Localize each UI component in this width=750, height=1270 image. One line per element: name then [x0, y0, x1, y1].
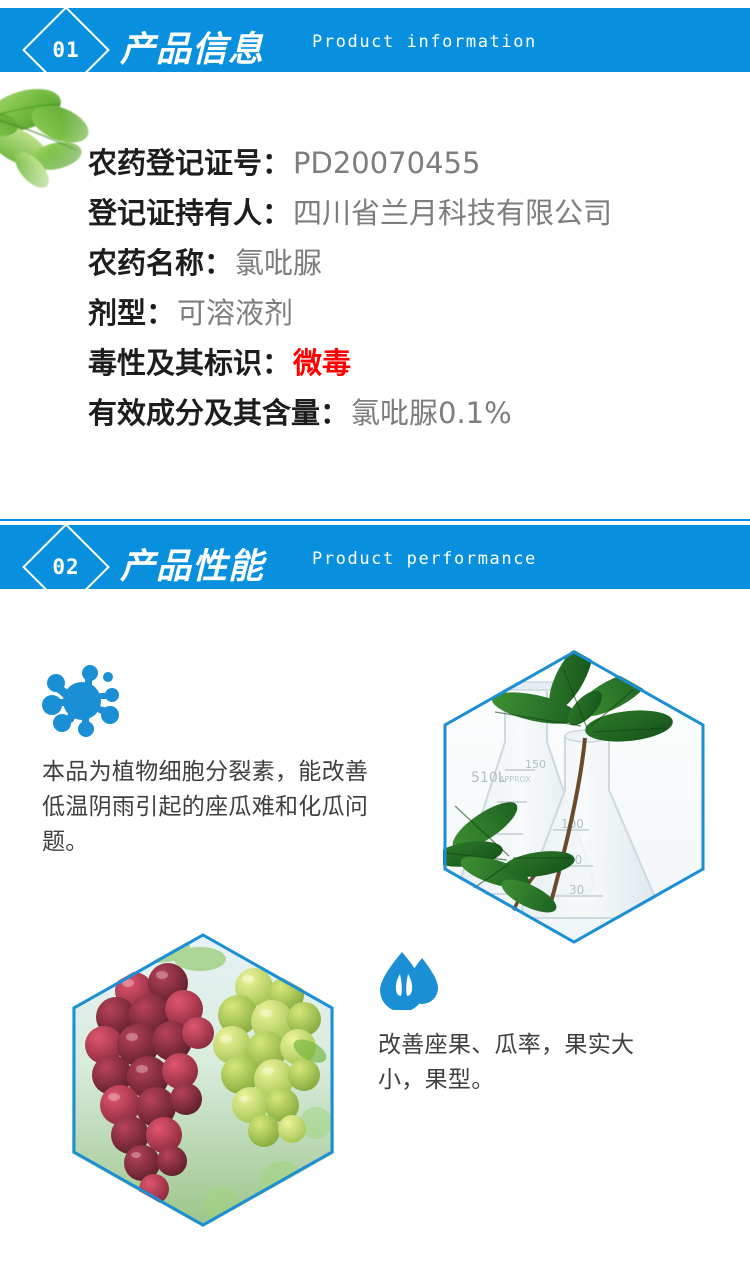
info-label: 毒性及其标识：: [88, 346, 291, 380]
section-title-en-01: Product information: [312, 32, 537, 52]
hexagon-border: [72, 933, 334, 1227]
flask-plant-photo: 150 APPROX 510L 100 50 30: [443, 650, 705, 944]
performance-feature-text: 改善座果、瓜率，果实大小，果型。: [378, 1028, 678, 1098]
banner-top-divider: [0, 519, 750, 521]
section-title-en-02: Product performance: [312, 549, 537, 569]
info-label: 登记证持有人：: [88, 196, 291, 230]
info-row: 毒性及其标识：微毒: [88, 338, 728, 388]
info-value: 可溶液剂: [177, 296, 293, 330]
performance-feature-text: 本品为植物细胞分裂素，能改善低温阴雨引起的座瓜难和化瓜问题。: [42, 755, 372, 860]
info-value: 氯吡脲0.1%: [351, 396, 512, 430]
product-info-list: 农药登记证号：PD20070455 登记证持有人：四川省兰月科技有限公司 农药名…: [88, 138, 728, 438]
info-label: 农药登记证号：: [88, 146, 291, 180]
molecule-cell-icon: [42, 665, 126, 737]
hexagon-border: [443, 650, 705, 944]
info-row: 有效成分及其含量：氯吡脲0.1%: [88, 388, 728, 438]
info-label: 剂型：: [88, 296, 175, 330]
info-row: 剂型：可溶液剂: [88, 288, 728, 338]
info-value: PD20070455: [293, 146, 480, 180]
info-value: 氯吡脲: [235, 246, 322, 280]
grapes-photo: [72, 933, 334, 1227]
info-row: 农药登记证号：PD20070455: [88, 138, 728, 188]
info-row: 农药名称：氯吡脲: [88, 238, 728, 288]
info-label: 有效成分及其含量：: [88, 396, 349, 430]
section-number-label: 01: [37, 21, 95, 79]
info-label: 农药名称：: [88, 246, 233, 280]
section-title-cn-02: 产品性能: [120, 538, 264, 589]
performance-feature-2: 改善座果、瓜率，果实大小，果型。: [378, 948, 678, 1098]
info-value-toxicity-badge: 微毒: [293, 346, 351, 380]
water-drop-icon: [378, 948, 444, 1010]
performance-feature-1: 本品为植物细胞分裂素，能改善低温阴雨引起的座瓜难和化瓜问题。: [42, 665, 372, 860]
info-value: 四川省兰月科技有限公司: [293, 196, 612, 230]
section-number-label: 02: [37, 538, 95, 596]
info-row: 登记证持有人：四川省兰月科技有限公司: [88, 188, 728, 238]
section-title-cn-01: 产品信息: [120, 21, 264, 72]
